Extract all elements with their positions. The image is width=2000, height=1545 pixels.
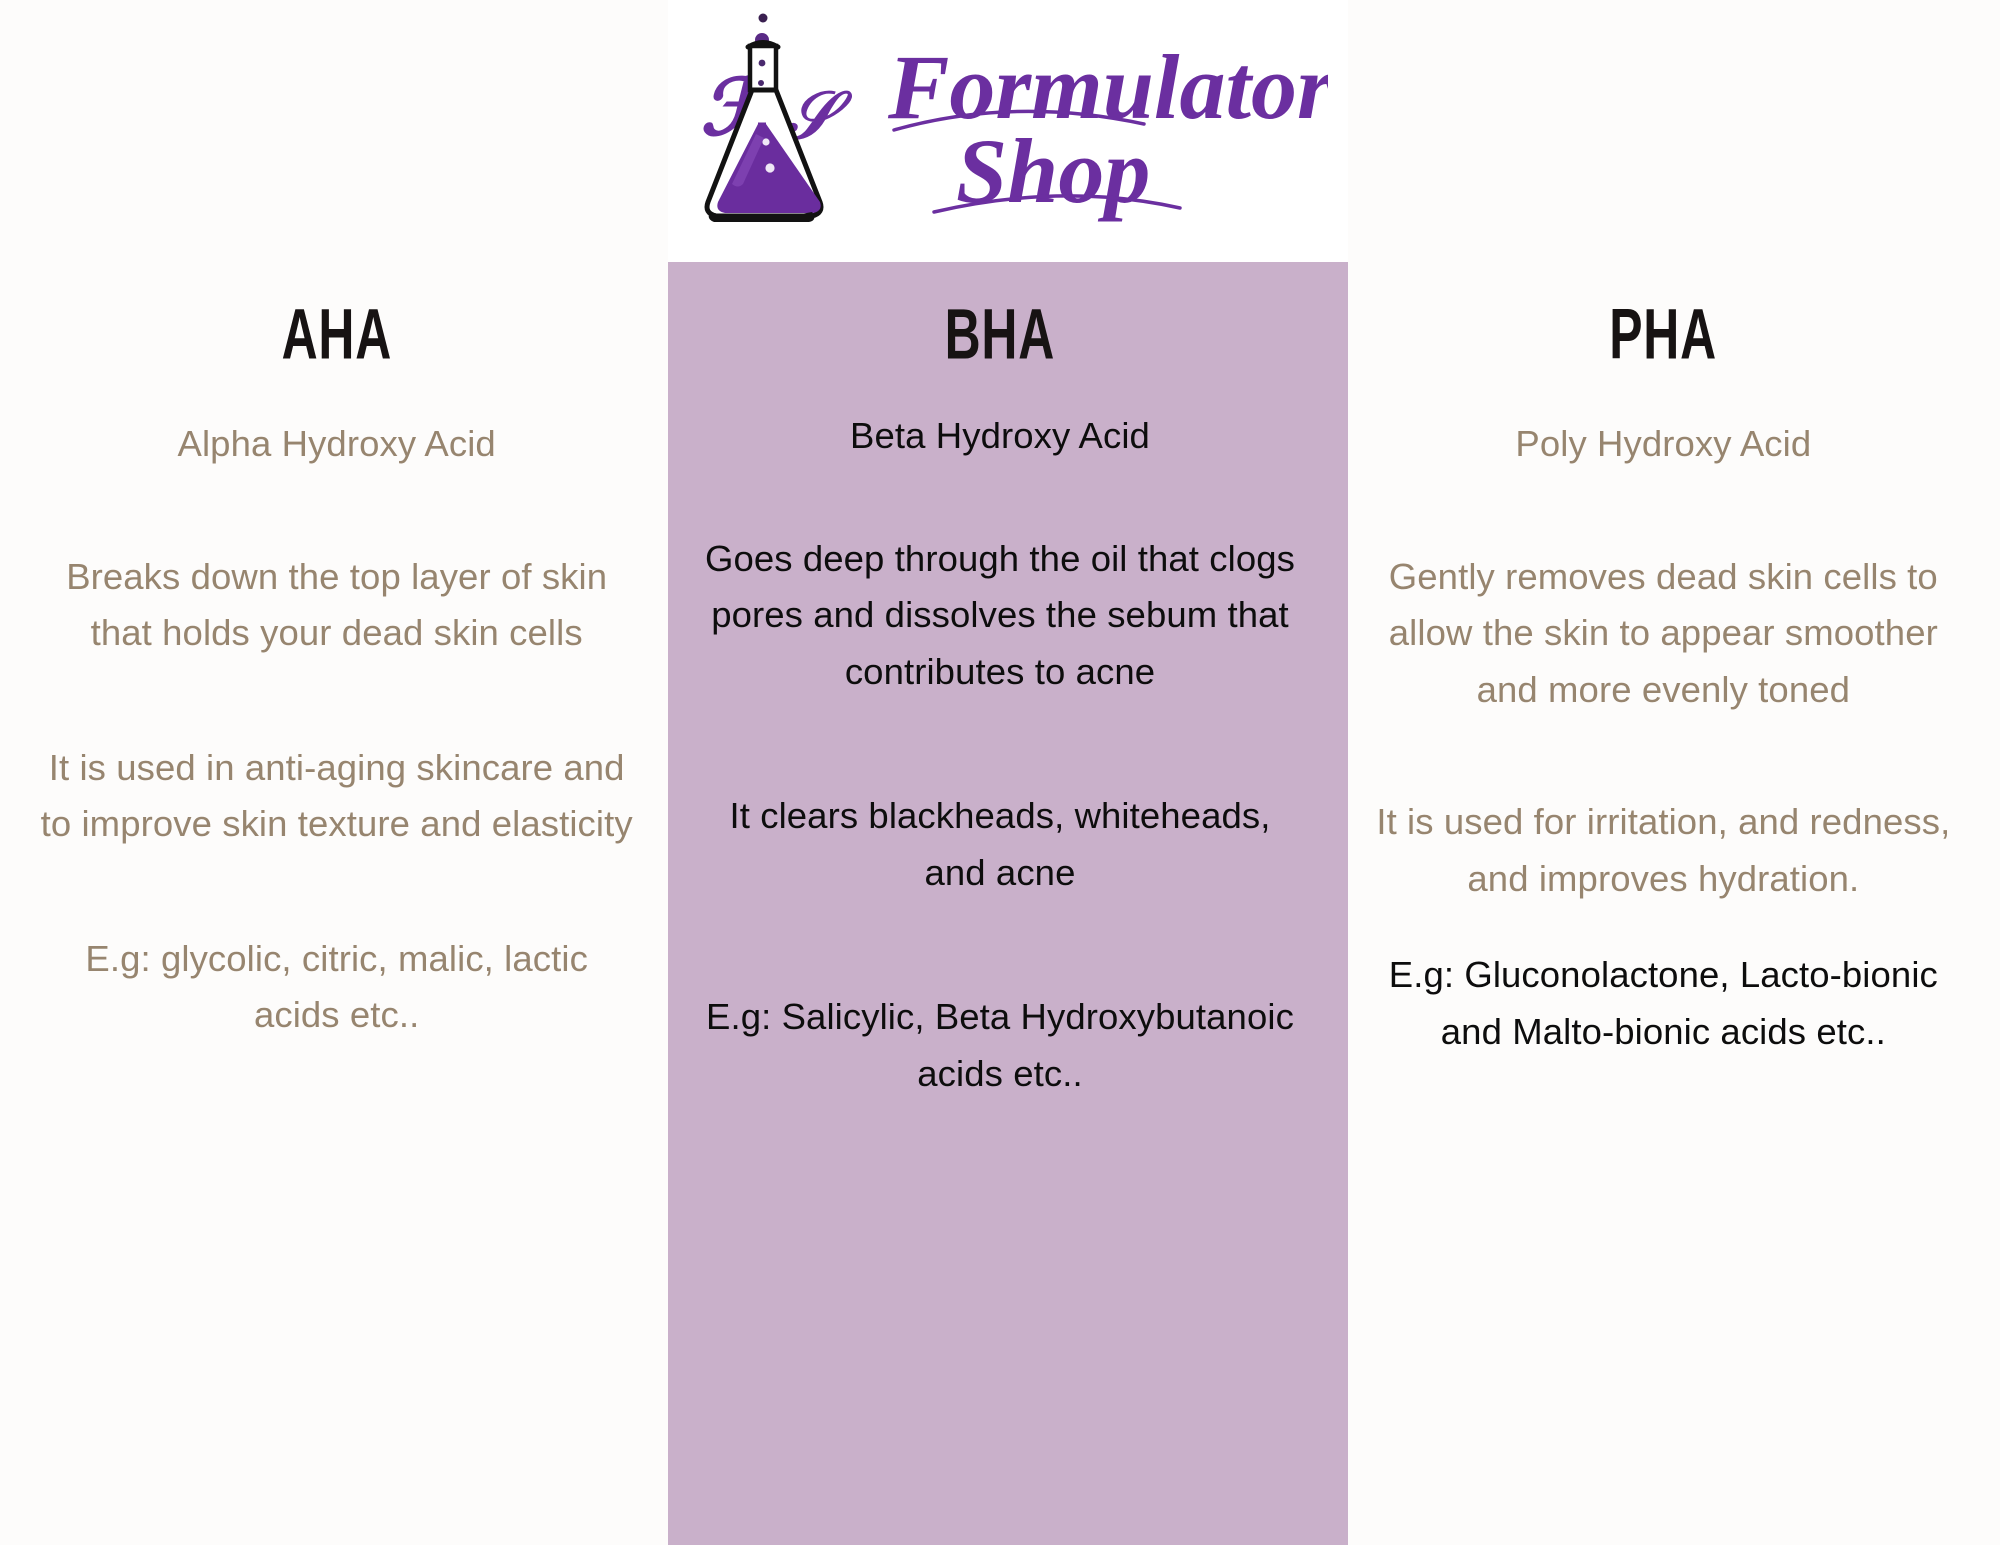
formulator-shop-logo-svg: ℱ 𝒮 — [688, 6, 1328, 256]
column-aha: AHA Alpha Hydroxy Acid Breaks down the t… — [0, 0, 673, 1545]
bha-paragraph-2: It clears blackheads, whiteheads, and ac… — [703, 788, 1296, 901]
aha-paragraph-1: Breaks down the top layer of skin that h… — [40, 549, 633, 662]
column-title-aha: AHA — [281, 298, 391, 370]
column-title-bha: BHA — [945, 298, 1055, 370]
column-subtitle-aha: Alpha Hydroxy Acid — [178, 416, 496, 473]
infographic-canvas: AHA Alpha Hydroxy Acid Breaks down the t… — [0, 0, 2000, 1545]
bha-paragraph-3: E.g: Salicylic, Beta Hydroxybutanoic aci… — [703, 989, 1296, 1102]
pha-paragraph-1: Gently removes dead skin cells to allow … — [1367, 549, 1960, 719]
column-subtitle-pha: Poly Hydroxy Acid — [1515, 416, 1811, 473]
bha-paragraph-1: Goes deep through the oil that clogs por… — [703, 531, 1296, 701]
column-title-pha: PHA — [1609, 298, 1717, 370]
pha-paragraph-3: E.g: Gluconolactone, Lacto-bionic and Ma… — [1367, 947, 1960, 1060]
brand-logo: ℱ 𝒮 — [668, 0, 1348, 262]
aha-paragraph-2: It is used in anti-aging skincare and to… — [40, 740, 633, 853]
column-pha: PHA Poly Hydroxy Acid Gently removes dea… — [1327, 0, 2000, 1545]
brand-name-line2: Shop — [956, 120, 1150, 222]
column-subtitle-bha: Beta Hydroxy Acid — [850, 408, 1150, 465]
pha-paragraph-2: It is used for irritation, and redness, … — [1367, 794, 1960, 907]
aha-paragraph-3: E.g: glycolic, citric, malic, lactic aci… — [40, 931, 633, 1044]
